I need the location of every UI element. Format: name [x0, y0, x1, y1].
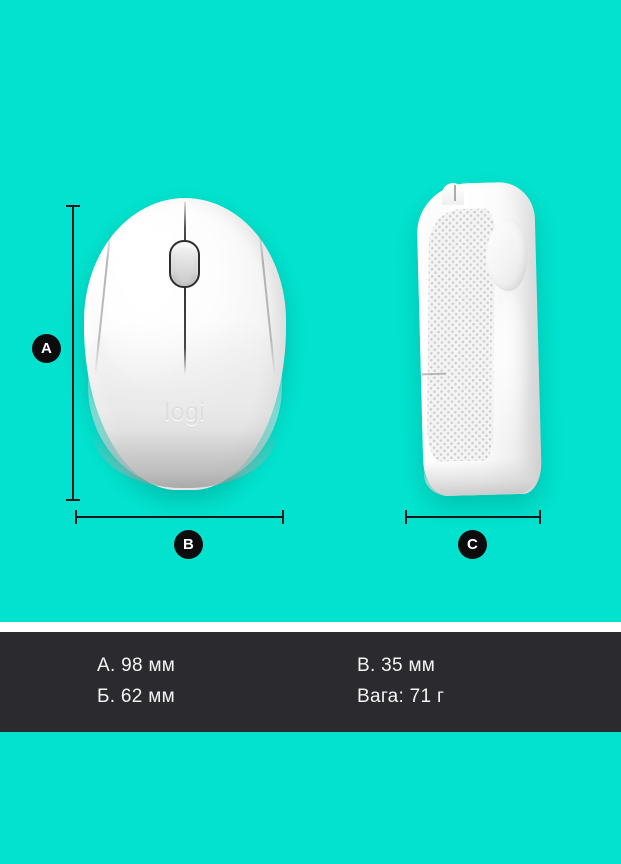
spec-line-depth: В. 35 мм: [357, 656, 444, 677]
dimension-bracket-a-cap-top: [66, 205, 80, 207]
spec-line-height: А. 98 мм: [97, 656, 357, 677]
mouse-scroll-wheel: [169, 240, 200, 288]
mouse-side-highlight: [490, 295, 530, 455]
spec-line-width: Б. 62 мм: [97, 687, 357, 708]
logi-wordmark: logi: [84, 398, 286, 427]
white-divider: [0, 622, 621, 632]
footer-area: [0, 732, 621, 864]
mouse-top-base-shading: [92, 430, 278, 488]
dimension-bracket-b-line: [75, 516, 284, 518]
dimension-badge-c: C: [458, 530, 487, 559]
product-stage: A B C logi: [0, 0, 621, 622]
dimension-badge-a: A: [32, 334, 61, 363]
dimension-bracket-b-cap-left: [75, 510, 77, 524]
mouse-top-highlight: [98, 212, 218, 392]
dimension-bracket-b-cap-right: [282, 510, 284, 524]
mouse-button-split-upper: [184, 202, 186, 244]
spec-line-weight: Вага: 71 г: [357, 687, 444, 708]
mouse-side-wheel-bulge: [486, 219, 528, 291]
spec-column-right: В. 35 мм Вага: 71 г: [357, 656, 444, 708]
spec-column-left: А. 98 мм Б. 62 мм: [97, 656, 357, 708]
mouse-side-base-shading: [424, 458, 537, 497]
dimension-bracket-a-cap-bottom: [66, 499, 80, 501]
dimension-bracket-c-cap-right: [539, 510, 541, 524]
mouse-top-view: logi: [84, 198, 286, 490]
dimension-bracket-c-line: [405, 516, 541, 518]
mouse-side-tip-notch: [454, 185, 456, 201]
specification-bar: А. 98 мм Б. 62 мм В. 35 мм Вага: 71 г: [0, 632, 621, 732]
dimension-bracket-a-line: [72, 205, 74, 501]
mouse-side-nose-tip: [442, 183, 464, 205]
mouse-button-split-lower: [184, 286, 186, 374]
dimension-bracket-c-cap-left: [405, 510, 407, 524]
dimension-badge-b: B: [174, 530, 203, 559]
mouse-side-textured-grip: [427, 208, 495, 462]
mouse-side-view: [412, 183, 548, 495]
